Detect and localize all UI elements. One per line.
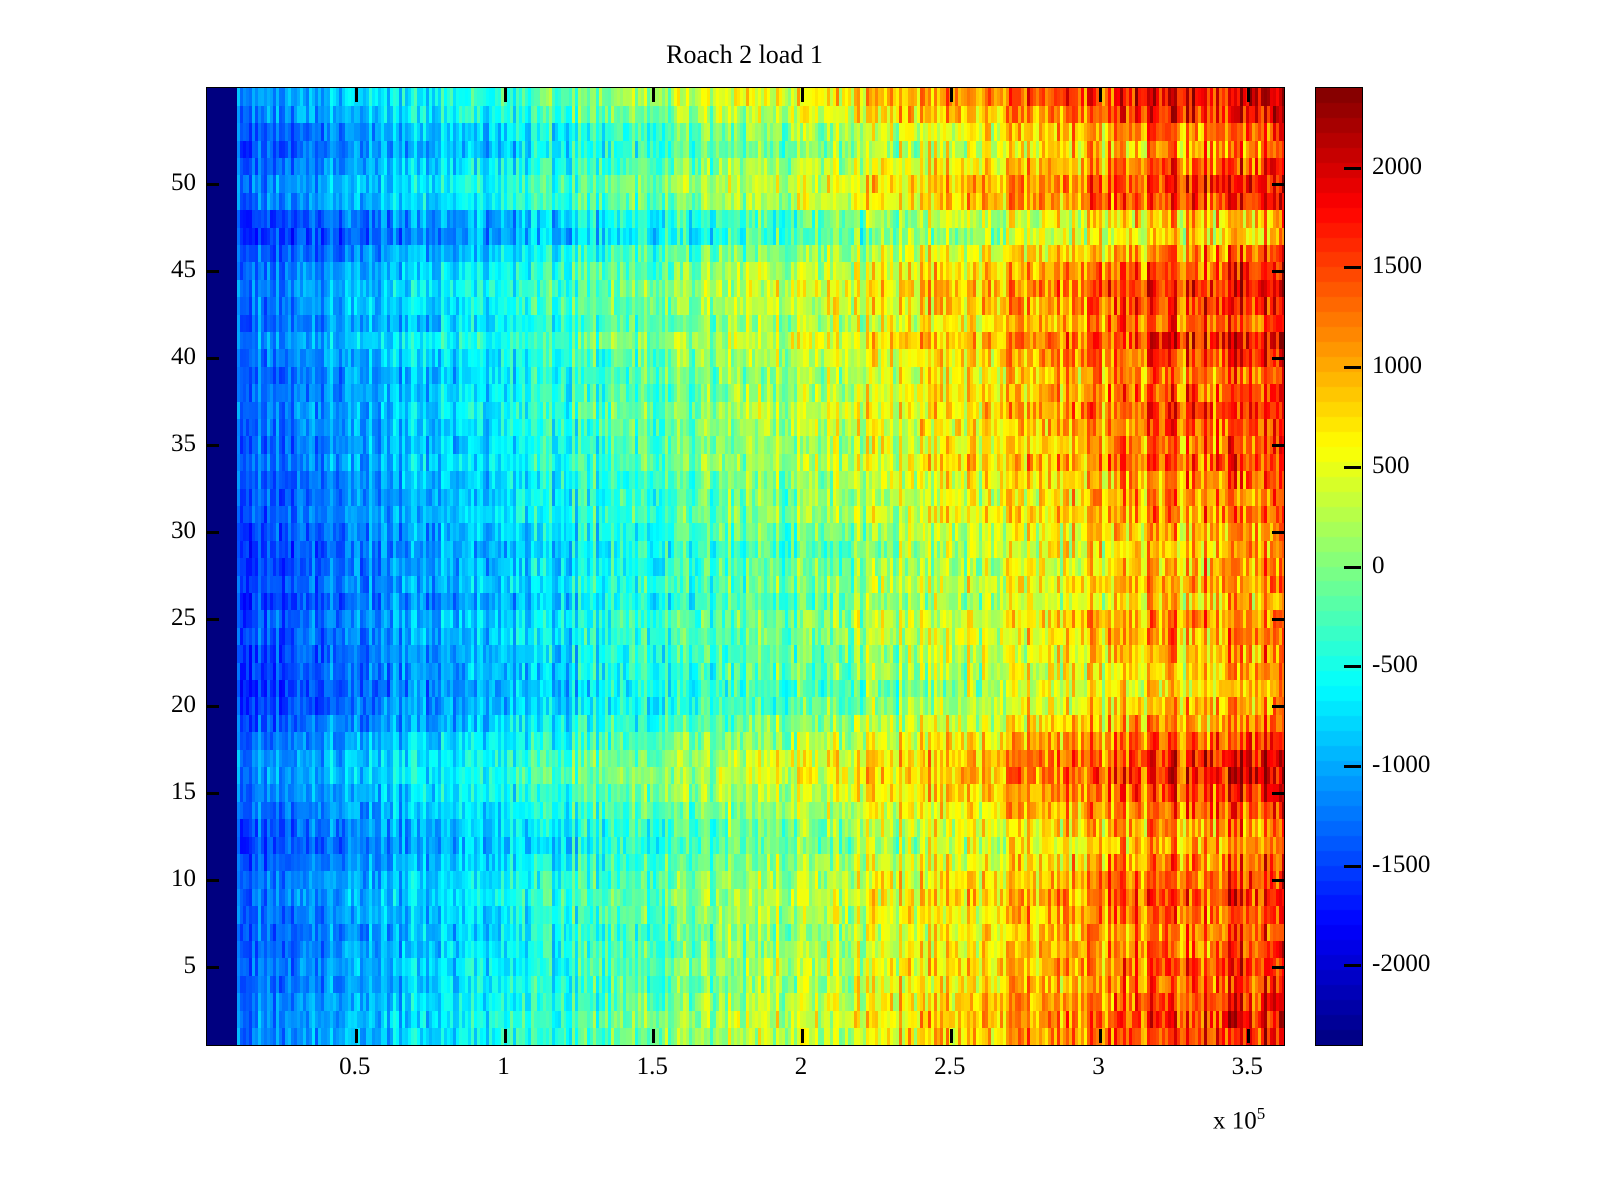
figure-canvas: Roach 2 load 1 5101520253035404550 0.511… — [0, 0, 1600, 1200]
colorbar-tick-mark — [1344, 865, 1361, 868]
x-exponent-base: x 10 — [1213, 1107, 1257, 1134]
colorbar-tick-mark — [1344, 366, 1361, 369]
x-axis-tick-mark — [1247, 1029, 1250, 1043]
colorbar-tick-mark — [1344, 665, 1361, 668]
colorbar-tick-label: -2000 — [1372, 951, 1430, 976]
x-axis-tick-label: 3 — [1092, 1053, 1105, 1081]
colorbar-tick-label: 500 — [1372, 453, 1410, 478]
x-axis-tick-mark — [355, 1029, 358, 1043]
colorbar-tick-mark — [1344, 765, 1361, 768]
colorbar-tick-label: -1500 — [1372, 852, 1430, 877]
x-axis-tick-label: 2.5 — [934, 1053, 965, 1081]
x-axis-tick-mark-top — [1247, 88, 1250, 102]
colorbar-tick-mark — [1344, 167, 1361, 170]
colorbar-tick-mark — [1344, 964, 1361, 967]
x-axis-tick-mark — [1099, 1029, 1102, 1043]
x-axis-tick-label: 0.5 — [339, 1053, 370, 1081]
colorbar-tick-label: 1000 — [1372, 353, 1422, 378]
x-axis-tick-mark-top — [504, 88, 507, 102]
x-axis-tick-mark — [652, 1029, 655, 1043]
x-axis-tick-mark — [504, 1029, 507, 1043]
colorbar-tick-label: -500 — [1372, 652, 1418, 677]
x-axis-tick-label: 1.5 — [637, 1053, 668, 1081]
x-axis-tick-mark-top — [950, 88, 953, 102]
x-axis-tick-mark-top — [1099, 88, 1102, 102]
x-axis-tick-mark — [950, 1029, 953, 1043]
x-axis-tick-mark-top — [801, 88, 804, 102]
colorbar-tick-label: -1000 — [1372, 752, 1430, 777]
colorbar-tick-mark — [1344, 266, 1361, 269]
colorbar-tick-label: 0 — [1372, 553, 1385, 578]
x-exponent-power: 5 — [1257, 1104, 1266, 1123]
x-axis-tick-mark-top — [355, 88, 358, 102]
x-axis-tick-label: 1 — [497, 1053, 510, 1081]
colorbar-tick-label: 1500 — [1372, 253, 1422, 278]
x-axis-tick-label: 2 — [795, 1053, 808, 1081]
colorbar-tick-mark — [1344, 466, 1361, 469]
x-axis-tick-mark — [801, 1029, 804, 1043]
x-axis-tick-label: 3.5 — [1232, 1053, 1263, 1081]
x-axis-exponent-label: x 105 — [1213, 1100, 1265, 1135]
colorbar-tick-mark — [1344, 566, 1361, 569]
colorbar-tick-label: 2000 — [1372, 154, 1422, 179]
x-axis-tick-mark-top — [652, 88, 655, 102]
